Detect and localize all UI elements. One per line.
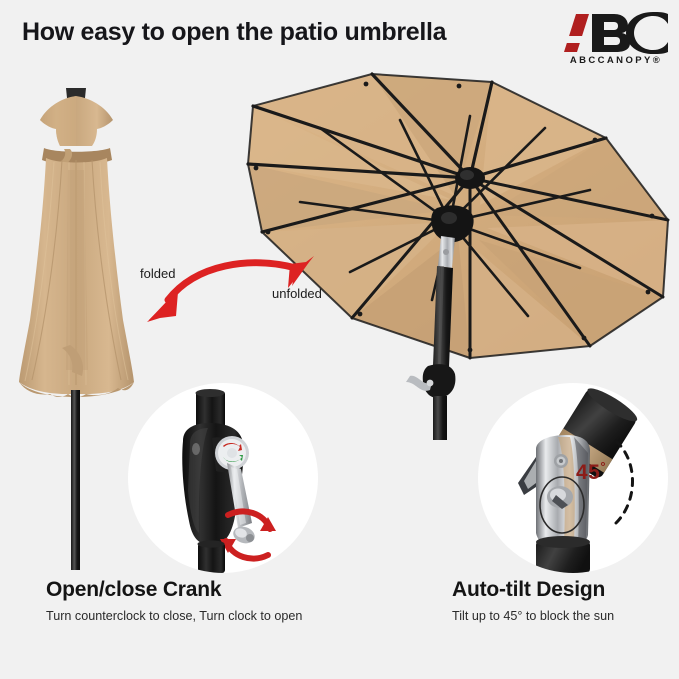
crank-caption-subtitle: Turn counterclock to close, Turn clock t… (46, 609, 376, 623)
tilt-angle-label: 45° (576, 459, 606, 485)
crank-mechanism-art (128, 383, 318, 573)
tilt-detail-circle: 45° (478, 383, 668, 573)
arrow-label-unfolded: unfolded (272, 286, 322, 301)
brand-logo: ABCCANOPY® (556, 12, 674, 68)
crank-caption-title: Open/close Crank (46, 578, 376, 602)
tilt-caption: Auto-tilt Design Tilt up to 45° to block… (452, 578, 679, 623)
infographic-canvas: How easy to open the patio umbrella ABCC… (0, 0, 679, 679)
abc-logo-mark (556, 12, 674, 54)
tilt-mechanism-art (478, 383, 668, 573)
degree-symbol: ° (600, 459, 606, 474)
tilt-caption-title: Auto-tilt Design (452, 578, 679, 602)
tilt-caption-subtitle: Tilt up to 45° to block the sun (452, 609, 679, 623)
tilt-angle-value: 45 (576, 461, 600, 484)
tilt-angle-arc (616, 441, 633, 523)
crank-caption: Open/close Crank Turn counterclock to cl… (46, 578, 376, 623)
crank-detail-circle (128, 383, 318, 573)
page-title: How easy to open the patio umbrella (22, 18, 446, 47)
arrow-label-folded: folded (140, 266, 175, 281)
brand-wordmark: ABCCANOPY® (558, 55, 674, 66)
folded-umbrella-art (19, 88, 134, 570)
